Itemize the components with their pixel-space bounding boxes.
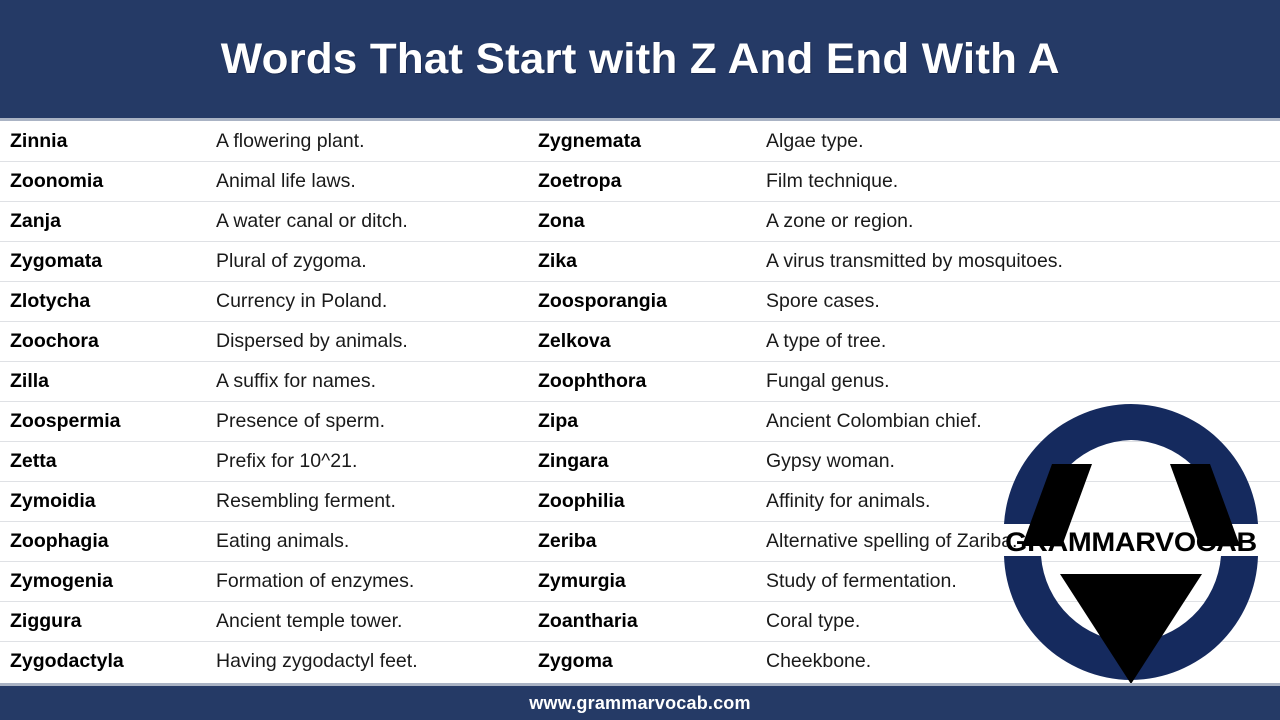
word-definition: Plural of zygoma. [216,250,367,273]
table-row: ZoophthoraFungal genus. [528,361,1168,401]
word-definition: A virus transmitted by mosquitoes. [766,250,1063,273]
word-definition: A flowering plant. [216,130,365,153]
word-term: Zygodactyla [10,650,124,673]
table-row: ZikaA virus transmitted by mosquitoes. [528,241,1168,281]
word-definition: Eating animals. [216,530,349,553]
table-row: ZeribaAlternative spelling of Zariba. [528,521,1168,561]
word-term: Zika [538,250,577,273]
word-term: Zoophagia [10,530,109,553]
word-column-right: ZygnemataAlgae type.ZoetropaFilm techniq… [528,121,1168,683]
table-row: ZoetropaFilm technique. [528,161,1168,201]
word-definition: Ancient Colombian chief. [766,410,982,433]
word-term: Zilla [10,370,49,393]
word-definition: Having zygodactyl feet. [216,650,418,673]
word-definition: Dispersed by animals. [216,330,408,353]
word-term: Zymoidia [10,490,96,513]
word-definition: Gypsy woman. [766,450,895,473]
word-term: Zanja [10,210,61,233]
word-definition: Ancient temple tower. [216,610,402,633]
word-definition: A water canal or ditch. [216,210,408,233]
word-term: Zoantharia [538,610,638,633]
table-row: ZoanthariaCoral type. [528,601,1168,641]
table-row: ZygomaCheekbone. [528,641,1168,681]
word-definition: Study of fermentation. [766,570,957,593]
table-row: ZipaAncient Colombian chief. [528,401,1168,441]
word-term: Zlotycha [10,290,90,313]
word-table: ZinniaA flowering plant.ZoonomiaAnimal l… [0,121,1280,683]
word-definition: Film technique. [766,170,898,193]
word-definition: Coral type. [766,610,860,633]
website-url: www.grammarvocab.com [529,693,750,714]
table-row: ZygnemataAlgae type. [528,121,1168,161]
word-term: Zoetropa [538,170,621,193]
word-definition: Currency in Poland. [216,290,387,313]
table-row: ZonaA zone or region. [528,201,1168,241]
word-definition: A suffix for names. [216,370,376,393]
word-term: Zoophthora [538,370,646,393]
table-row: ZoosporangiaSpore cases. [528,281,1168,321]
word-list-infographic: Words That Start with Z And End With A Z… [0,0,1280,720]
table-row: ZymurgiaStudy of fermentation. [528,561,1168,601]
word-term: Zetta [10,450,57,473]
word-term: Zelkova [538,330,611,353]
word-definition: Algae type. [766,130,864,153]
word-term: Zingara [538,450,608,473]
word-term: Zymurgia [538,570,626,593]
word-definition: A type of tree. [766,330,886,353]
word-term: Zymogenia [10,570,113,593]
word-term: Zipa [538,410,578,433]
word-term: Zoosporangia [538,290,667,313]
word-definition: Alternative spelling of Zariba. [766,530,1017,553]
table-row: ZingaraGypsy woman. [528,441,1168,481]
word-term: Zoophilia [538,490,625,513]
word-term: Zona [538,210,585,233]
word-term: Ziggura [10,610,82,633]
word-definition: Spore cases. [766,290,880,313]
table-row: ZoophiliaAffinity for animals. [528,481,1168,521]
table-row: ZelkovaA type of tree. [528,321,1168,361]
page-title: Words That Start with Z And End With A [220,35,1059,84]
word-definition: Presence of sperm. [216,410,385,433]
word-term: Zygoma [538,650,613,673]
word-term: Zoochora [10,330,99,353]
word-term: Zoospermia [10,410,121,433]
word-definition: Resembling ferment. [216,490,396,513]
word-definition: Fungal genus. [766,370,890,393]
footer-banner: www.grammarvocab.com [0,686,1280,720]
word-definition: Affinity for animals. [766,490,930,513]
word-term: Zeriba [538,530,597,553]
header-banner: Words That Start with Z And End With A [0,0,1280,118]
word-definition: A zone or region. [766,210,913,233]
word-definition: Prefix for 10^21. [216,450,357,473]
word-term: Zinnia [10,130,67,153]
word-definition: Cheekbone. [766,650,871,673]
word-definition: Formation of enzymes. [216,570,414,593]
word-definition: Animal life laws. [216,170,356,193]
word-term: Zygomata [10,250,102,273]
word-term: Zoonomia [10,170,103,193]
word-term: Zygnemata [538,130,641,153]
